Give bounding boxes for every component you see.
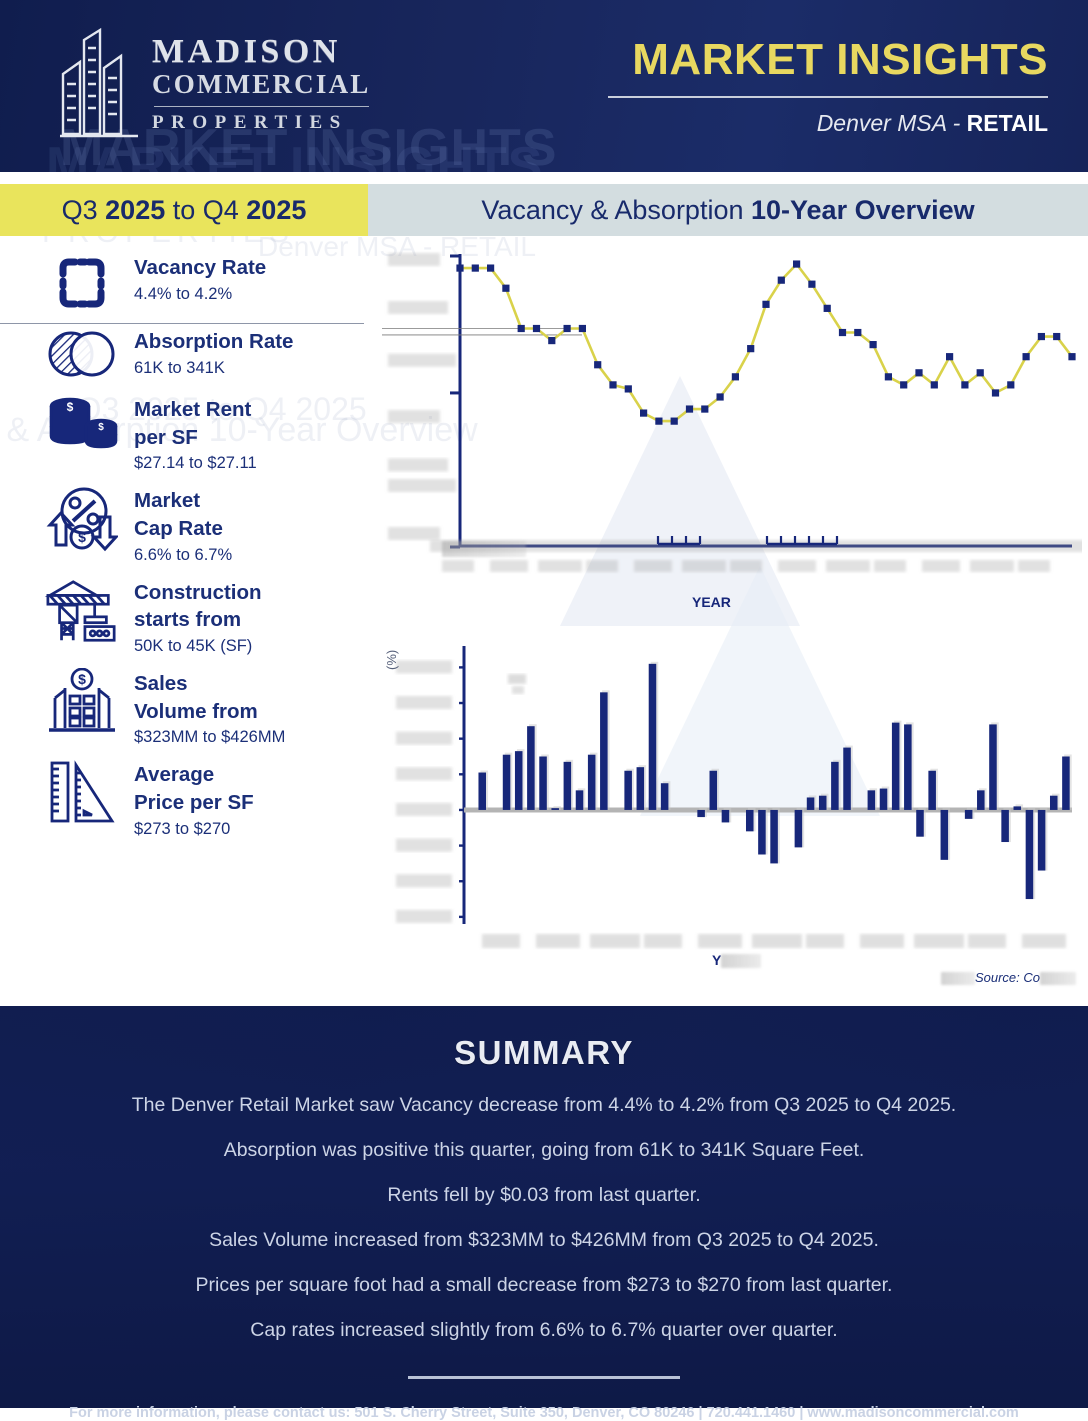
chart-section-heading: Vacancy & Absorption 10-Year Overview (368, 184, 1088, 236)
charts-panel: Vacancy YEAR (%) YEAR SouSource: CoStar (372, 236, 1088, 1006)
period-mid: to Q4 (165, 195, 246, 225)
price-per-sf-ruler-icon (44, 759, 120, 825)
absorption-venn-circles-icon (44, 326, 120, 382)
metric-vacancy-rate[interactable]: Vacancy Rate 4.4% to 4.2% (0, 246, 372, 320)
metric-average-price-per-sf[interactable]: Average Price per SF $273 to $270 (0, 753, 372, 844)
metric-market-rent[interactable]: $ $ Market Rent per SF $27.14 to $27.11 (0, 388, 372, 479)
metric-title-line2: Volume from (134, 698, 285, 726)
metric-text: Market Cap Rate 6.6% to 6.7% (134, 485, 232, 564)
summary-title: SUMMARY (0, 1006, 1088, 1072)
sales-volume-building-icon: $ (44, 668, 120, 734)
main-content: y & Absorption 10-Year Overview Q3 2025 … (0, 236, 1088, 1006)
metric-construction-starts[interactable]: Construction starts from 50K to 45K (SF) (0, 571, 372, 662)
bar-chart-yaxis-label: (%) (384, 650, 399, 670)
svg-text:$: $ (98, 422, 104, 433)
cap-rate-percent-arrows-icon: $ (44, 485, 120, 553)
chart-heading-label: Vacancy & Absorption 10-Year Overview (481, 195, 974, 226)
metric-text: Absorption Rate 61K to 341K (134, 326, 293, 378)
metric-value: 50K to 45K (SF) (134, 637, 262, 656)
xaxis-label-redacted: EAR (721, 954, 761, 968)
metric-text: Market Rent per SF $27.14 to $27.11 (134, 394, 257, 473)
metric-value: $273 to $270 (134, 820, 254, 839)
construction-crane-icon (44, 577, 120, 645)
metric-title-line1: Sales (134, 670, 285, 698)
footer-contact: For more information, please contact us:… (0, 1405, 1088, 1421)
metric-title: Vacancy Rate (134, 254, 266, 282)
metric-sales-volume[interactable]: $ Sales Volume from $323MM to $426MM (0, 662, 372, 753)
line-chart-legend: Vacancy (442, 541, 526, 557)
vacancy-rate-line-chart[interactable]: Vacancy YEAR (382, 246, 1082, 616)
period-badge: Q3 2025 to Q4 2025 (0, 184, 368, 236)
metric-title-line1: Market Rent (134, 396, 257, 424)
period-from-year: 2025 (105, 195, 165, 225)
company-logo[interactable]: MADISON COMMERCIAL PROPERTIES (58, 22, 371, 140)
vacancy-dashed-square-icon (44, 252, 120, 314)
market-rent-coins-icon: $ $ (44, 394, 120, 456)
section-titlebar: Q3 2025 to Q4 2025 Vacancy & Absorption … (0, 184, 1088, 236)
logo-line-2: COMMERCIAL (152, 70, 371, 100)
metric-value: $27.14 to $27.11 (134, 454, 257, 473)
metric-text: Average Price per SF $273 to $270 (134, 759, 254, 838)
legend-vacancy-redacted: Vacancy (442, 541, 526, 557)
summary-line: Prices per square foot had a small decre… (0, 1274, 1088, 1297)
svg-text:$: $ (78, 529, 86, 545)
summary-line: Cap rates increased slightly from 6.6% t… (0, 1319, 1088, 1342)
market-subtitle: Denver MSA - RETAIL (608, 110, 1048, 137)
sector-name: RETAIL (967, 110, 1048, 136)
summary-line: Sales Volume increased from $323MM to $4… (0, 1229, 1088, 1252)
metric-title-line1: Market (134, 487, 232, 515)
summary-section: SUMMARY The Denver Retail Market saw Vac… (0, 1006, 1088, 1408)
svg-text:$: $ (67, 400, 74, 414)
logo-divider (154, 106, 369, 107)
metric-title-line2: Price per SF (134, 789, 254, 817)
metric-value: 6.6% to 6.7% (134, 546, 232, 565)
metric-cap-rate[interactable]: $ Market Cap Rate 6.6% to 6.7% (0, 479, 372, 570)
metric-value: 4.4% to 4.2% (134, 285, 266, 304)
market-name: Denver MSA - (817, 110, 967, 136)
metric-text: Construction starts from 50K to 45K (SF) (134, 577, 262, 656)
chart-heading-light: Vacancy & Absorption (481, 195, 751, 225)
footer-divider (408, 1376, 680, 1379)
metric-title-line2: per SF (134, 424, 257, 452)
source-prefix-redacted: Sou (941, 972, 975, 985)
chart-heading-bold: 10-Year Overview (751, 195, 975, 225)
svg-text:$: $ (78, 671, 86, 687)
header-title-block: MARKET INSIGHTS Denver MSA - RETAIL (608, 38, 1048, 137)
logo-line-1: MADISON (152, 34, 371, 70)
header-divider (608, 96, 1048, 98)
header-watermark-text-2: MARKET INSIGHTS (46, 136, 543, 172)
source-suffix-redacted: Star (1040, 972, 1076, 985)
line-chart-xaxis-label: YEAR (692, 594, 731, 610)
bar-chart-xaxis-label: YEAR (712, 952, 761, 968)
summary-line: The Denver Retail Market saw Vacancy dec… (0, 1094, 1088, 1117)
metric-title-line2: starts from (134, 606, 262, 634)
metric-title-line2: Cap Rate (134, 515, 232, 543)
absorption-bar-chart[interactable]: (%) YEAR SouSource: CoStar (382, 634, 1082, 989)
period-prefix: Q3 (62, 195, 106, 225)
metrics-sidebar: Vacancy Rate 4.4% to 4.2% Absorption Rat… (0, 236, 372, 1006)
metric-title-line1: Construction (134, 579, 262, 607)
metric-title-line1: Average (134, 761, 254, 789)
page-header: MARKET INSIGHTS MARKET INSIGHTS MADISON … (0, 0, 1088, 172)
metric-value: 61K to 341K (134, 359, 293, 378)
chart-source-note: SouSource: CoStar (941, 970, 1076, 985)
metric-text: Sales Volume from $323MM to $426MM (134, 668, 285, 747)
page-title: MARKET INSIGHTS (608, 38, 1048, 82)
metric-absorption-rate[interactable]: Absorption Rate 61K to 341K (0, 320, 372, 388)
metric-value: $323MM to $426MM (134, 728, 285, 747)
period-to-year: 2025 (246, 195, 306, 225)
logo-line-3: PROPERTIES (152, 112, 371, 134)
source-text: Source: Co (975, 970, 1040, 985)
period-label: Q3 2025 to Q4 2025 (62, 195, 307, 226)
summary-line: Absorption was positive this quarter, go… (0, 1139, 1088, 1162)
metric-text: Vacancy Rate 4.4% to 4.2% (134, 252, 266, 304)
metric-title: Absorption Rate (134, 328, 293, 356)
building-skyline-logo-icon (58, 22, 140, 140)
summary-line: Rents fell by $0.03 from last quarter. (0, 1184, 1088, 1207)
logo-wordmark: MADISON COMMERCIAL PROPERTIES (152, 28, 371, 133)
